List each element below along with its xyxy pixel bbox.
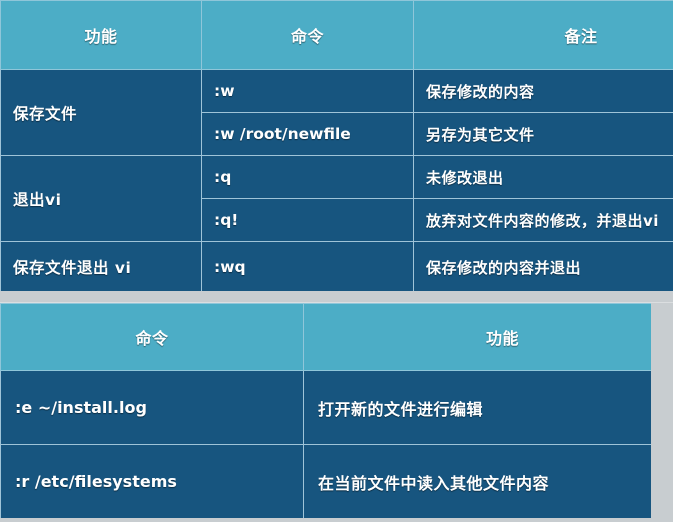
table-row: :r /etc/filesystems 在当前文件中读入其他文件内容 (1, 445, 673, 519)
row-command: :wq (202, 242, 414, 293)
row-remark: 保存修改的内容并退出 (414, 242, 673, 293)
table-row: 保存文件 :w 保存修改的内容 (1, 70, 673, 113)
column-header-remark: 备注 (414, 1, 673, 70)
row-command: :q (202, 156, 414, 199)
column-header-command: 命令 (202, 1, 414, 70)
page-right-margin (651, 303, 673, 518)
column-header-function: 功能 (304, 304, 673, 371)
row-command: :w /root/newfile (202, 113, 414, 156)
row-command: :w (202, 70, 414, 113)
table-header-row: 命令 功能 (1, 304, 673, 371)
table-row: 保存文件退出 vi :wq 保存修改的内容并退出 (1, 242, 673, 293)
row-remark: 另存为其它文件 (414, 113, 673, 156)
row-category-save-and-quit: 保存文件退出 vi (1, 242, 202, 293)
row-category-save-file: 保存文件 (1, 70, 202, 156)
screenshot-page: 功能 命令 备注 保存文件 :w 保存修改的内容 :w /root/newfil… (0, 0, 673, 522)
page-bottom-margin (0, 518, 673, 522)
vi-save-quit-table: 功能 命令 备注 保存文件 :w 保存修改的内容 :w /root/newfil… (0, 0, 673, 293)
row-category-quit-vi: 退出vi (1, 156, 202, 242)
row-remark: 保存修改的内容 (414, 70, 673, 113)
column-header-function: 功能 (1, 1, 202, 70)
row-command: :e ~/install.log (1, 371, 304, 445)
row-remark: 未修改退出 (414, 156, 673, 199)
row-function: 打开新的文件进行编辑 (304, 371, 673, 445)
row-command: :q! (202, 199, 414, 242)
table-header-row: 功能 命令 备注 (1, 1, 673, 70)
row-command: :r /etc/filesystems (1, 445, 304, 519)
table-divider-gap (0, 291, 673, 303)
row-remark: 放弃对文件内容的修改，并退出vi (414, 199, 673, 242)
column-header-command: 命令 (1, 304, 304, 371)
table-row: 退出vi :q 未修改退出 (1, 156, 673, 199)
vi-file-operations-table: 命令 功能 :e ~/install.log 打开新的文件进行编辑 :r /et… (0, 303, 673, 519)
row-function: 在当前文件中读入其他文件内容 (304, 445, 673, 519)
table-row: :e ~/install.log 打开新的文件进行编辑 (1, 371, 673, 445)
